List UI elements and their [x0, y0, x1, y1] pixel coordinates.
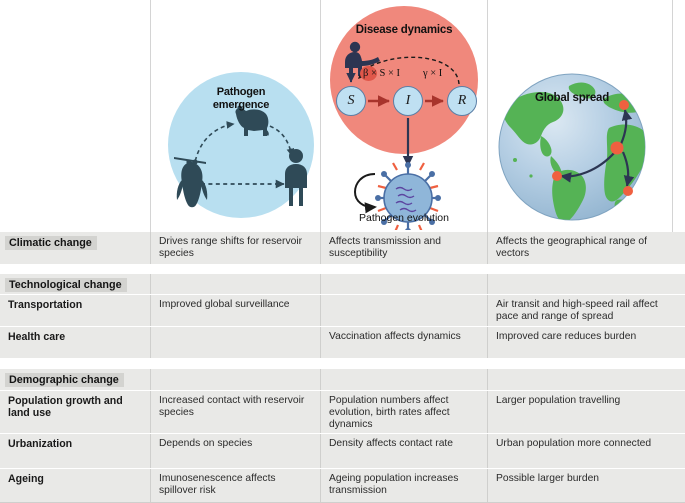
panel-title-disease-dynamics: Disease dynamics: [330, 24, 478, 36]
row-label-cell: Demographic change: [0, 369, 150, 390]
cell-disease-dynamics: [320, 274, 487, 294]
row-label-cell: Ageing: [0, 469, 150, 502]
cell-global-spread: Air transit and high-speed rail affect p…: [487, 295, 685, 326]
table-row-technological-change: Technological change: [0, 274, 685, 294]
cell-global-spread: Affects the geographical range of vector…: [487, 232, 685, 264]
cell-pathogen-emergence: Imunosenescence affects spillover risk: [150, 469, 320, 502]
row-label-cell: Population growth and land use: [0, 391, 150, 433]
cell-global-spread: Urban population more connected: [487, 434, 685, 468]
cell-pathogen-emergence: Depends on species: [150, 434, 320, 468]
row-label-cell: Climatic change: [0, 232, 150, 264]
cell-global-spread: Larger population travelling: [487, 391, 685, 433]
panel-pathogen-emergence: Pathogen emergence: [168, 72, 314, 218]
cell-disease-dynamics: Affects transmission and susceptibility: [320, 232, 487, 264]
cell-pathogen-emergence: [150, 327, 320, 358]
illustration-band: Pathogen emergence: [0, 0, 685, 232]
marker-origin: [611, 142, 624, 155]
table-row-climatic-change: Climatic change Drives range shifts for …: [0, 232, 685, 264]
cell-pathogen-emergence: Drives range shifts for reservoir specie…: [150, 232, 320, 264]
cell-disease-dynamics: [320, 369, 487, 390]
cell-disease-dynamics: Vaccination affects dynamics: [320, 327, 487, 358]
section-header-badge: Technological change: [5, 278, 127, 292]
cell-global-spread: [487, 274, 685, 294]
cell-disease-dynamics: [320, 295, 487, 326]
bat-silhouette: [174, 157, 207, 207]
column-rule-4: [672, 0, 673, 232]
arrow-evolution-cycle: [355, 174, 375, 207]
column-rule-2: [320, 0, 321, 232]
row-label-cell: Technological change: [0, 274, 150, 294]
panel-disease-dynamics: Disease dynamics β × S × I γ × I S I R P…: [325, 6, 483, 230]
panel-title-line2: emergence: [213, 99, 269, 111]
cell-pathogen-emergence: Improved global surveillance: [150, 295, 320, 326]
rate-label-infection: β × S × I: [363, 68, 400, 79]
cell-disease-dynamics: Population numbers affect evolution, bir…: [320, 391, 487, 433]
compartment-I: I: [393, 86, 423, 116]
cell-global-spread: Improved care reduces burden: [487, 327, 685, 358]
table-row-health-care: Health care Vaccination affects dynamics…: [0, 327, 685, 358]
column-rule-3: [487, 0, 488, 232]
table-row-urbanization: Urbanization Depends on species Density …: [0, 434, 685, 468]
cell-pathogen-emergence: [150, 274, 320, 294]
arrow-pig-to-human: [263, 124, 292, 156]
table-gap-2: [0, 358, 685, 369]
column-rule-1: [150, 0, 151, 232]
human-silhouette: [285, 149, 307, 206]
cell-disease-dynamics: Density affects contact rate: [320, 434, 487, 468]
marker-southeast: [623, 186, 633, 196]
compartment-R: R: [447, 86, 477, 116]
marker-south-america: [552, 171, 562, 181]
panel-title-line1: Pathogen: [217, 86, 266, 98]
cell-global-spread: Possible larger burden: [487, 469, 685, 502]
panel-global-spread: Global spread: [497, 72, 647, 222]
row-label-cell: Transportation: [0, 295, 150, 326]
disease-dynamics-illustration: [325, 6, 483, 230]
table-row-population-growth: Population growth and land use Increased…: [0, 391, 685, 433]
cell-pathogen-emergence: [150, 369, 320, 390]
cell-global-spread: [487, 369, 685, 390]
table-row-ageing: Ageing Imunosenescence affects spillover…: [0, 469, 685, 502]
pathogen-evolution-label: Pathogen evolution: [325, 212, 483, 224]
cell-disease-dynamics: Ageing population increases transmission: [320, 469, 487, 502]
section-header-badge: Demographic change: [5, 373, 124, 387]
table-gap-1: [0, 264, 685, 274]
table-row-demographic-change: Demographic change: [0, 369, 685, 390]
row-label-cell: Urbanization: [0, 434, 150, 468]
panel-title-global-spread: Global spread: [497, 92, 647, 104]
drivers-table: Climatic change Drives range shifts for …: [0, 232, 685, 503]
table-row-transportation: Transportation Improved global surveilla…: [0, 295, 685, 326]
row-label-cell: Health care: [0, 327, 150, 358]
rate-label-recovery: γ × I: [423, 68, 442, 79]
compartment-S: S: [336, 86, 366, 116]
cell-pathogen-emergence: Increased contact with reservoir species: [150, 391, 320, 433]
figure-root: Pathogen emergence: [0, 0, 685, 503]
section-header-badge: Climatic change: [5, 236, 97, 250]
panel-title-pathogen-emergence: Pathogen emergence: [168, 86, 314, 112]
